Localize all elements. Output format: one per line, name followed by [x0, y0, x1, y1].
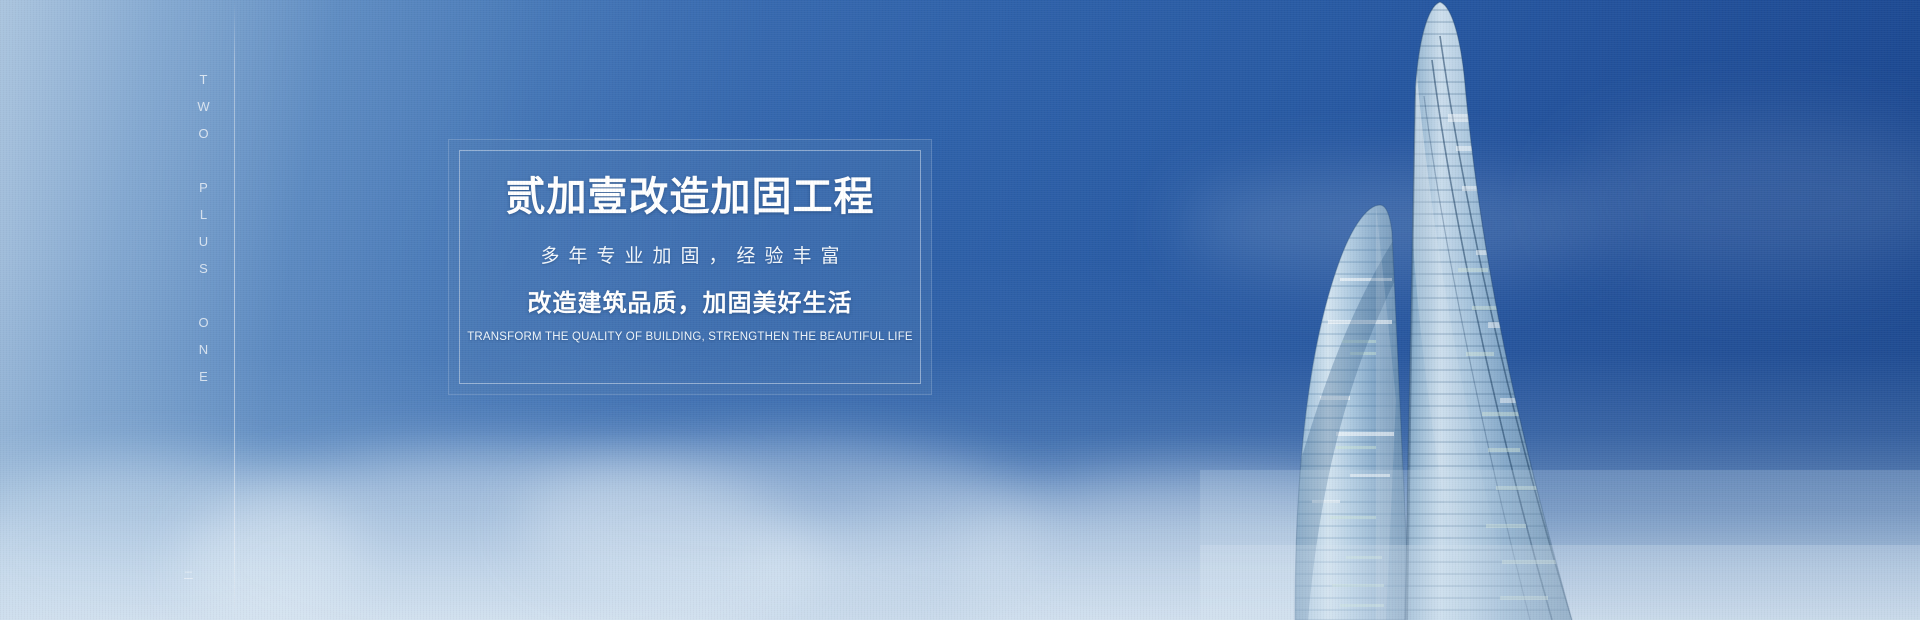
- headline-subtitle: 多年专业加固，经验丰富: [449, 246, 931, 269]
- vertical-brand-label: TWO PLUS ONE: [197, 72, 210, 396]
- panel-content: 贰加壹改造加固工程 多年专业加固，经验丰富 改造建筑品质，加固美好生活 TRAN…: [449, 174, 931, 345]
- corner-mark-label: 二: [181, 570, 191, 581]
- vertical-brand-text: TWO PLUS ONE: [180, 72, 210, 396]
- vertical-divider-line: [234, 0, 235, 620]
- headline-slogan-en: TRANSFORM THE QUALITY OF BUILDING, STREN…: [449, 330, 931, 345]
- skyscraper-illustration: [1200, 0, 1920, 620]
- headline-slogan: 改造建筑品质，加固美好生活: [449, 290, 931, 319]
- hero-banner: TWO PLUS ONE 二 贰加壹改造加固工程 多年专业加固，经验丰富 改造建…: [0, 0, 1920, 620]
- headline-panel: 贰加壹改造加固工程 多年专业加固，经验丰富 改造建筑品质，加固美好生活 TRAN…: [448, 139, 932, 395]
- headline-title: 贰加壹改造加固工程: [449, 174, 931, 220]
